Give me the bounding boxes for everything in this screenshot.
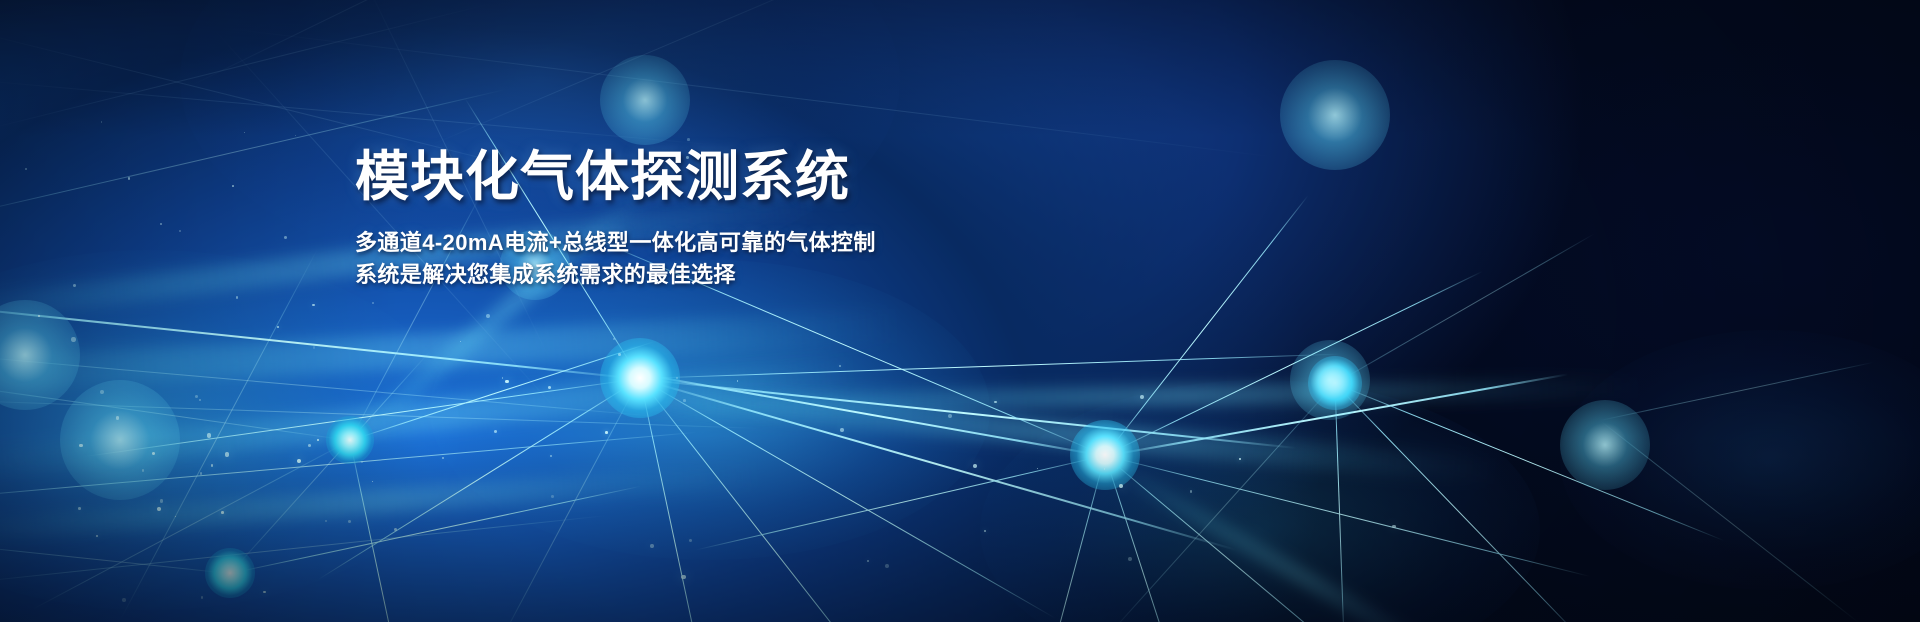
banner-subtitle: 多通道4-20mA电流+总线型一体化高可靠的气体控制 系统是解决您集成系统需求的…	[355, 227, 1255, 291]
banner-subtitle-line-2: 系统是解决您集成系统需求的最佳选择	[355, 259, 1255, 291]
banner-copy: 模块化气体探测系统 多通道4-20mA电流+总线型一体化高可靠的气体控制 系统是…	[355, 145, 1255, 291]
background-vignette	[0, 0, 1920, 622]
banner-title: 模块化气体探测系统	[355, 145, 1255, 209]
hero-banner: 模块化气体探测系统 多通道4-20mA电流+总线型一体化高可靠的气体控制 系统是…	[0, 0, 1920, 622]
banner-subtitle-line-1: 多通道4-20mA电流+总线型一体化高可靠的气体控制	[355, 227, 1255, 259]
